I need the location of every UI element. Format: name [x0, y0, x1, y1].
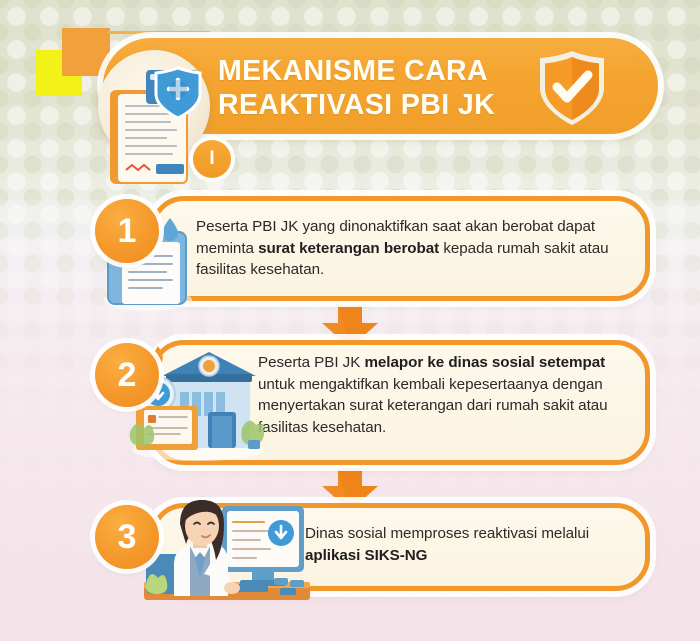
- page-title: MEKANISME CARA REAKTIVASI PBI JK: [218, 48, 538, 128]
- decorative-line: [108, 31, 210, 34]
- step-1-number-badge: 1: [95, 199, 159, 263]
- title-line-2: REAKTIVASI PBI JK: [218, 88, 538, 122]
- step-3-text-part-1: Dinas sosial memproses reaktivasi melalu…: [305, 525, 589, 542]
- step-2-number-badge: 2: [95, 343, 159, 407]
- step-3-number-badge: 3: [95, 505, 159, 569]
- step-2-text-part-2: melapor ke dinas sosial setempat: [364, 354, 605, 371]
- step-1-text-part-2: surat keterangan berobat: [258, 240, 439, 257]
- step-3-text: Dinas sosial memproses reaktivasi melalu…: [305, 523, 627, 566]
- header-bullet-marker: I: [193, 140, 231, 178]
- step-2-text: Peserta PBI JK melapor ke dinas sosial s…: [258, 352, 632, 438]
- officer-at-computer-icon: [140, 492, 316, 612]
- step-2-text-part-1: Peserta PBI JK: [258, 354, 364, 371]
- step-3-text-part-2: aplikasi SIKS-NG: [305, 547, 427, 564]
- title-line-1: MEKANISME CARA: [218, 54, 538, 88]
- shield-check-icon: [534, 48, 610, 128]
- step-1-text: Peserta PBI JK yang dinonaktifkan saat a…: [196, 216, 632, 281]
- step-2-text-part-3: untuk mengaktifkan kembali kepesertaanya…: [258, 376, 608, 436]
